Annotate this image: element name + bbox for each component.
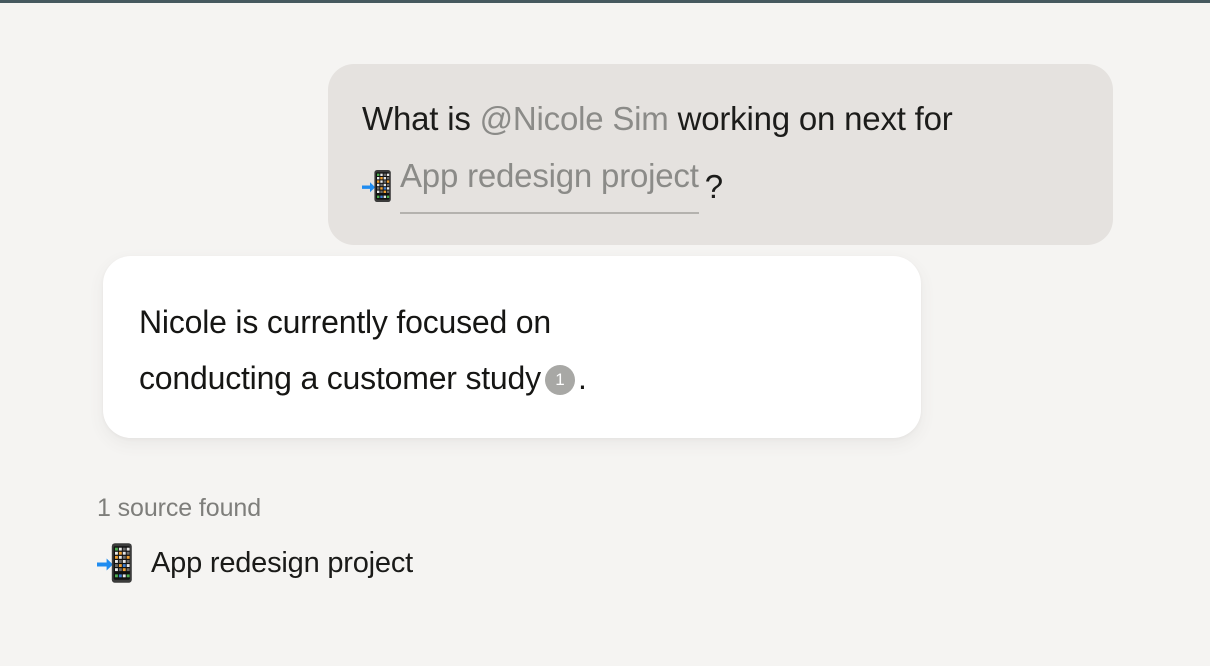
question-line-1: What is @Nicole Sim working on next for [362,90,1075,147]
answer-period: . [578,360,587,396]
answer-card: Nicole is currently focused on conductin… [103,256,921,438]
conversation-stage: What is @Nicole Sim working on next for [0,0,1210,666]
question-prefix: What is [362,100,480,137]
question-middle: working on next for [669,100,953,137]
question-suffix: ? [705,168,723,205]
question-line-2: App redesign project ? [362,147,1075,215]
answer-line-1: Nicole is currently focused on [139,294,881,350]
source-list-item[interactable]: App redesign project [97,542,697,584]
mention-nicole-sim[interactable]: @Nicole Sim [480,100,669,137]
answer-line-2: conducting a customer study1. [139,350,881,406]
sources-heading: 1 source found [97,492,697,524]
source-label: App redesign project [151,544,413,582]
entity-chip-label: App redesign project [400,147,699,214]
answer-line-2-text: conducting a customer study [139,360,541,396]
mobile-phone-with-arrow-icon [97,542,133,584]
mobile-phone-with-arrow-icon [362,169,392,203]
question-bubble: What is @Nicole Sim working on next for [328,64,1113,245]
citation-badge-1[interactable]: 1 [545,365,575,395]
entity-chip-app-redesign-project[interactable]: App redesign project [362,147,699,214]
sources-section: 1 source found [97,492,697,584]
